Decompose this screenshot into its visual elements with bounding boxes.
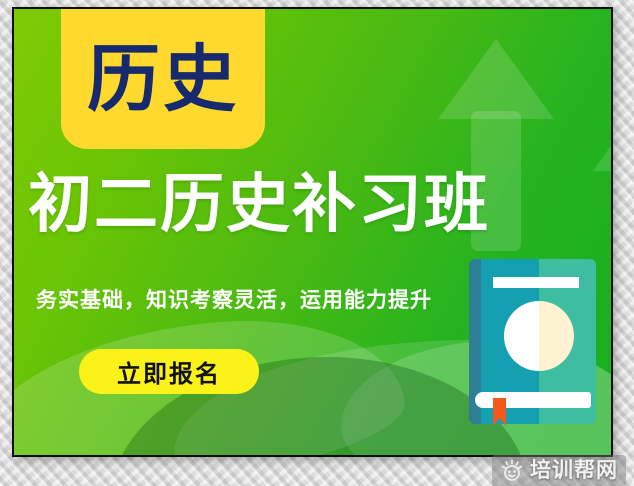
subtitle-text: 务实基础，知识考察灵活，运用能力提升 [36,290,432,311]
enroll-now-button[interactable]: 立即报名 [79,349,259,394]
watermark-label: 培训帮网 [530,460,618,481]
subject-tag-label: 历史 [87,43,239,116]
arrow-head [438,39,554,119]
banner-frame: 历史 初二历史补习班 务实基础，知识考察灵活，运用能力提升 立即报名 [12,7,613,457]
book-emblem-circle [504,301,574,371]
promo-banner: 历史 初二历史补习班 务实基础，知识考察灵活，运用能力提升 立即报名 [14,9,611,455]
subject-tag: 历史 [61,9,265,149]
book-bottom-bar [475,392,591,408]
page-title: 初二历史补习班 [28,173,490,237]
arrow-head [593,101,611,171]
book-icon [469,259,596,424]
smiley-sun-icon [500,459,524,483]
book-title-bar [493,277,579,288]
watermark: 培训帮网 [492,455,626,486]
page-canvas: 历史 初二历史补习班 务实基础，知识考察灵活，运用能力提升 立即报名 [0,0,634,486]
